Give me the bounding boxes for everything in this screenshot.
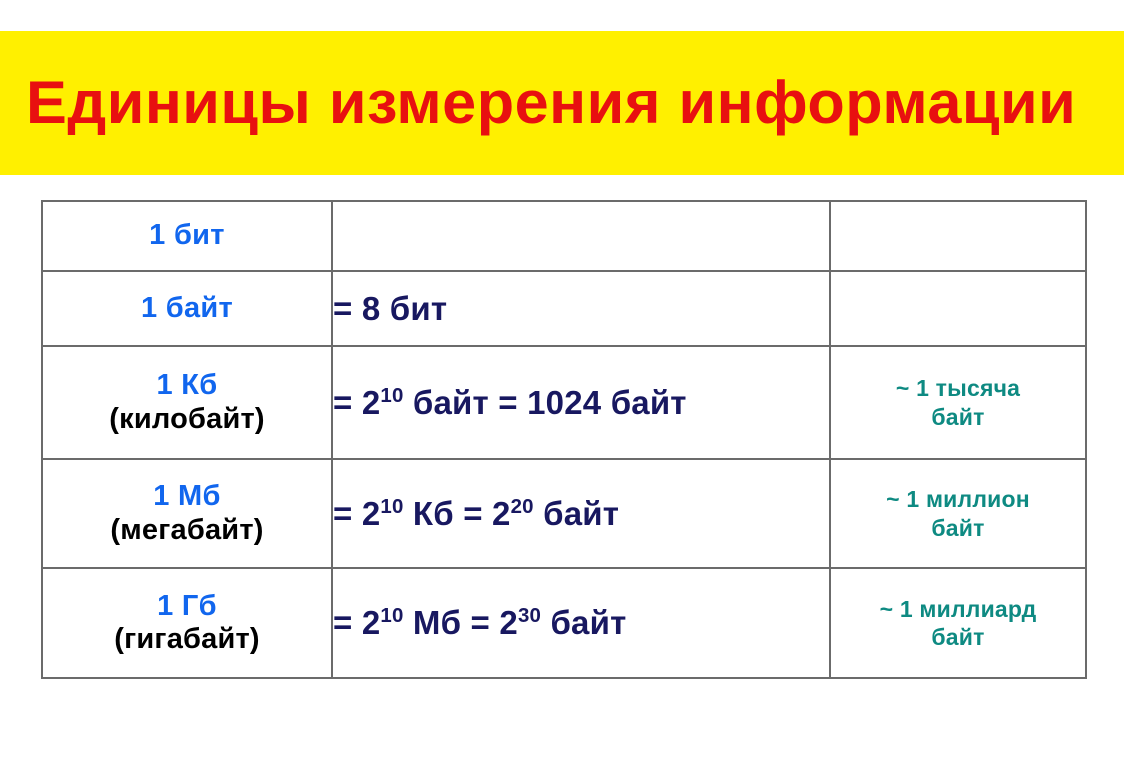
value-exponent-b: 20 [511, 495, 534, 518]
page-title: Единицы измерения информации [26, 73, 1076, 133]
approx-line-1: ~ 1 тысяча [896, 375, 1020, 401]
table-row: 1 Кб (килобайт) = 210 байт = 1024 байт ~… [42, 346, 1086, 459]
approx-line-1: ~ 1 миллион [886, 486, 1030, 512]
unit-short-label: 1 байт [43, 293, 331, 324]
unit-full-label: (килобайт) [43, 404, 331, 435]
value-exponent-a: 10 [380, 604, 403, 627]
table-row: 1 Мб (мегабайт) = 210 Кб = 220 байт ~ 1 … [42, 459, 1086, 568]
unit-short-label: 1 Мб [43, 481, 331, 512]
title-banner: Единицы измерения информации [0, 31, 1124, 175]
table-row: 1 Гб (гигабайт) = 210 Мб = 230 байт ~ 1 … [42, 568, 1086, 678]
value-part-b: Кб = 2 [404, 495, 511, 532]
value-part-a: = 2 [333, 604, 380, 641]
table-row: 1 бит [42, 201, 1086, 271]
slide-root: { "slide": { "title": "Единицы измерения… [0, 0, 1124, 768]
unit-cell-gb: 1 Гб (гигабайт) [42, 568, 332, 678]
table-row: 1 байт = 8 бит [42, 271, 1086, 346]
approx-line-2: байт [831, 403, 1085, 431]
approx-cell-mb: ~ 1 миллион байт [830, 459, 1086, 568]
unit-full-label: (мегабайт) [43, 515, 331, 546]
approx-cell-bit [830, 201, 1086, 271]
unit-short-label: 1 Гб [43, 591, 331, 622]
value-cell-bit [332, 201, 830, 271]
approx-cell-byte [830, 271, 1086, 346]
value-cell-kb: = 210 байт = 1024 байт [332, 346, 830, 459]
unit-cell-bit: 1 бит [42, 201, 332, 271]
value-part-c: байт [534, 495, 619, 532]
unit-cell-byte: 1 байт [42, 271, 332, 346]
value-cell-mb: = 210 Кб = 220 байт [332, 459, 830, 568]
value-exponent-a: 10 [380, 384, 403, 407]
value-part-a: = 2 [333, 384, 380, 421]
value-cell-gb: = 210 Мб = 230 байт [332, 568, 830, 678]
value-exponent-a: 10 [380, 495, 403, 518]
value-part-b: Мб = 2 [404, 604, 518, 641]
value-part-a: = 2 [333, 495, 380, 532]
value-cell-byte: = 8 бит [332, 271, 830, 346]
approx-line-2: байт [831, 623, 1085, 651]
unit-cell-kb: 1 Кб (килобайт) [42, 346, 332, 459]
approx-cell-kb: ~ 1 тысяча байт [830, 346, 1086, 459]
unit-cell-mb: 1 Мб (мегабайт) [42, 459, 332, 568]
approx-cell-gb: ~ 1 миллиард байт [830, 568, 1086, 678]
value-part-b: байт = 1024 байт [404, 384, 687, 421]
unit-full-label: (гигабайт) [43, 624, 331, 655]
unit-short-label: 1 Кб [43, 370, 331, 401]
unit-short-label: 1 бит [43, 220, 331, 251]
value-exponent-b: 30 [518, 604, 541, 627]
value-text: = 8 бит [333, 290, 447, 327]
units-table-body: 1 бит 1 байт = 8 бит [42, 201, 1086, 678]
approx-line-1: ~ 1 миллиард [880, 596, 1037, 622]
units-table: 1 бит 1 байт = 8 бит [41, 200, 1087, 679]
approx-line-2: байт [831, 514, 1085, 542]
value-part-c: байт [541, 604, 626, 641]
